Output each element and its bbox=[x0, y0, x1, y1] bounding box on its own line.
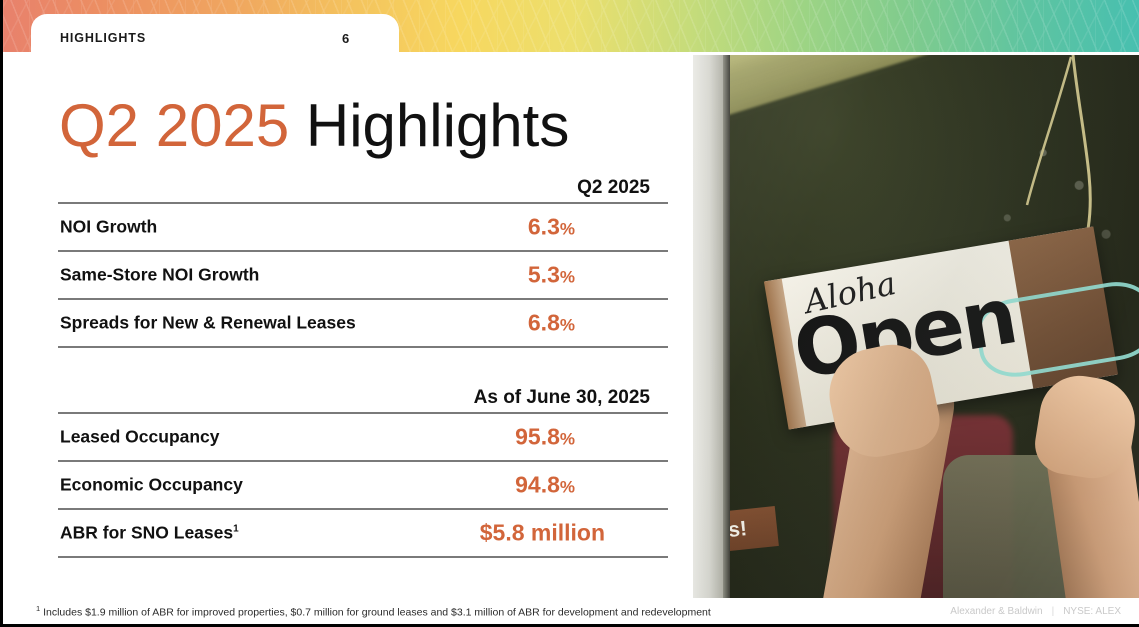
table-header-row: As of June 30, 2025 bbox=[58, 382, 668, 412]
metric-label: ABR for SNO Leases1 bbox=[60, 523, 239, 544]
metric-number: 95.8 bbox=[515, 424, 560, 450]
metric-value: 5.3% bbox=[528, 262, 575, 289]
section-label: HIGHLIGHTS bbox=[60, 31, 146, 45]
footnote-text: Includes $1.9 million of ABR for improve… bbox=[40, 607, 711, 619]
table-row: Same-Store NOI Growth 5.3% bbox=[58, 252, 668, 298]
table-row: ABR for SNO Leases1 $5.8 million bbox=[58, 510, 668, 556]
metric-unit: % bbox=[560, 430, 575, 449]
column-header-asof: As of June 30, 2025 bbox=[474, 387, 650, 409]
metric-unit: % bbox=[560, 478, 575, 497]
metrics-table-asof: As of June 30, 2025 Leased Occupancy 95.… bbox=[58, 382, 668, 558]
brand-company: Alexander & Baldwin bbox=[950, 606, 1042, 617]
metric-label-text: ABR for SNO Leases bbox=[60, 523, 233, 543]
metric-value: 6.3% bbox=[528, 214, 575, 241]
table-header-row: Q2 2025 bbox=[58, 172, 668, 202]
footnote-marker: 1 bbox=[233, 524, 239, 535]
metric-value: 94.8% bbox=[515, 472, 575, 499]
page-title-rest: Highlights bbox=[289, 92, 569, 159]
column-header-quarter: Q2 2025 bbox=[577, 177, 650, 199]
metric-unit: % bbox=[560, 316, 575, 335]
page-title-accent: Q2 2025 bbox=[59, 92, 289, 159]
metric-label: Economic Occupancy bbox=[60, 475, 243, 496]
table-row: Economic Occupancy 94.8% bbox=[58, 462, 668, 508]
metric-label: Same-Store NOI Growth bbox=[60, 265, 259, 286]
metric-value: $5.8 million bbox=[480, 520, 605, 547]
footnote: 1 Includes $1.9 million of ABR for impro… bbox=[36, 604, 711, 619]
metric-unit: % bbox=[560, 268, 575, 287]
metric-number: 5.3 bbox=[528, 262, 560, 288]
metric-number: $5.8 million bbox=[480, 520, 605, 546]
table-row: Spreads for New & Renewal Leases 6.8% bbox=[58, 300, 668, 346]
metric-value: 95.8% bbox=[515, 424, 575, 451]
brand-ticker: NYSE: ALEX bbox=[1063, 606, 1121, 617]
metric-value: 6.8% bbox=[528, 310, 575, 337]
metrics-table-quarter: Q2 2025 NOI Growth 6.3% Same-Store NOI G… bbox=[58, 172, 668, 348]
page-number: 6 bbox=[342, 31, 349, 46]
metric-label: Spreads for New & Renewal Leases bbox=[60, 313, 356, 334]
table-row: NOI Growth 6.3% bbox=[58, 204, 668, 250]
hero-photo: Aloha Open sks! bbox=[693, 55, 1139, 598]
brand-separator: | bbox=[1052, 606, 1055, 617]
metric-number: 94.8 bbox=[515, 472, 560, 498]
brand-footer: Alexander & Baldwin|NYSE: ALEX bbox=[950, 606, 1121, 617]
metric-number: 6.3 bbox=[528, 214, 560, 240]
table-rule bbox=[58, 346, 668, 348]
metric-unit: % bbox=[560, 220, 575, 239]
table-row: Leased Occupancy 95.8% bbox=[58, 414, 668, 460]
photo-window-frame-shadow bbox=[723, 55, 730, 598]
slide-root: HIGHLIGHTS 6 Q2 2025 Highlights Q2 2025 … bbox=[0, 0, 1139, 627]
table-rule bbox=[58, 556, 668, 558]
metric-number: 6.8 bbox=[528, 310, 560, 336]
metric-label: NOI Growth bbox=[60, 217, 157, 238]
page-title: Q2 2025 Highlights bbox=[59, 96, 569, 156]
metric-label: Leased Occupancy bbox=[60, 427, 220, 448]
photo-window-frame bbox=[693, 55, 723, 598]
